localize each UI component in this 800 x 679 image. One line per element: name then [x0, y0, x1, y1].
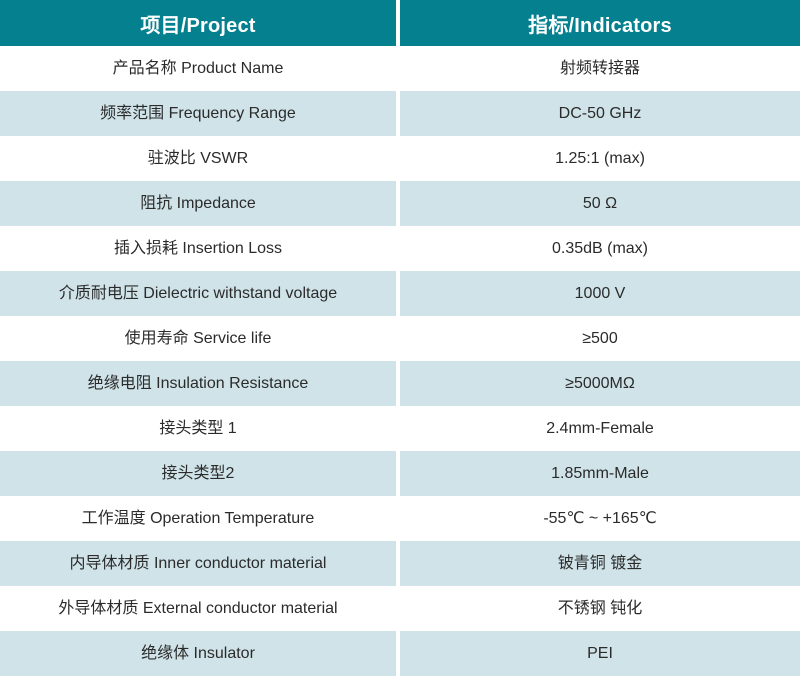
cell-project: 频率范围 Frequency Range [0, 91, 400, 136]
cell-indicator: 2.4mm-Female [400, 406, 800, 451]
cell-indicator: ≥5000MΩ [400, 361, 800, 406]
table-row: 产品名称 Product Name射频转接器 [0, 46, 800, 91]
table-row: 频率范围 Frequency RangeDC-50 GHz [0, 91, 800, 136]
cell-project: 产品名称 Product Name [0, 46, 400, 91]
cell-indicator: 0.35dB (max) [400, 226, 800, 271]
table-row: 使用寿命 Service life≥500 [0, 316, 800, 361]
cell-indicator: DC-50 GHz [400, 91, 800, 136]
cell-project: 绝缘电阻 Insulation Resistance [0, 361, 400, 406]
cell-indicator: -55℃ ~ +165℃ [400, 496, 800, 541]
cell-indicator: PEI [400, 631, 800, 676]
table-body: 产品名称 Product Name射频转接器频率范围 Frequency Ran… [0, 46, 800, 676]
table-row: 接头类型 12.4mm-Female [0, 406, 800, 451]
table-header-row: 项目/Project 指标/Indicators [0, 0, 800, 46]
table-row: 介质耐电压 Dielectric withstand voltage1000 V [0, 271, 800, 316]
cell-indicator: 1.85mm-Male [400, 451, 800, 496]
cell-project: 接头类型2 [0, 451, 400, 496]
table-row: 驻波比 VSWR1.25:1 (max) [0, 136, 800, 181]
table-row: 阻抗 Impedance50 Ω [0, 181, 800, 226]
cell-project: 插入损耗 Insertion Loss [0, 226, 400, 271]
cell-project: 工作温度 Operation Temperature [0, 496, 400, 541]
cell-project: 外导体材质 External conductor material [0, 586, 400, 631]
cell-project: 驻波比 VSWR [0, 136, 400, 181]
cell-project: 阻抗 Impedance [0, 181, 400, 226]
specification-table: 项目/Project 指标/Indicators 产品名称 Product Na… [0, 0, 800, 676]
cell-indicator: 射频转接器 [400, 46, 800, 91]
table-header: 项目/Project 指标/Indicators [0, 0, 800, 46]
cell-project: 使用寿命 Service life [0, 316, 400, 361]
table-row: 外导体材质 External conductor material不锈钢 钝化 [0, 586, 800, 631]
cell-indicator: 1000 V [400, 271, 800, 316]
cell-indicator: 不锈钢 钝化 [400, 586, 800, 631]
cell-indicator: 铍青铜 镀金 [400, 541, 800, 586]
table-row: 插入损耗 Insertion Loss0.35dB (max) [0, 226, 800, 271]
table-row: 接头类型21.85mm-Male [0, 451, 800, 496]
cell-project: 接头类型 1 [0, 406, 400, 451]
column-header-project: 项目/Project [0, 0, 400, 46]
table-row: 内导体材质 Inner conductor material铍青铜 镀金 [0, 541, 800, 586]
cell-project: 介质耐电压 Dielectric withstand voltage [0, 271, 400, 316]
cell-project: 绝缘体 Insulator [0, 631, 400, 676]
column-header-indicator: 指标/Indicators [400, 0, 800, 46]
cell-indicator: 1.25:1 (max) [400, 136, 800, 181]
cell-indicator: 50 Ω [400, 181, 800, 226]
table-row: 工作温度 Operation Temperature-55℃ ~ +165℃ [0, 496, 800, 541]
cell-indicator: ≥500 [400, 316, 800, 361]
table-row: 绝缘电阻 Insulation Resistance≥5000MΩ [0, 361, 800, 406]
cell-project: 内导体材质 Inner conductor material [0, 541, 400, 586]
table-row: 绝缘体 InsulatorPEI [0, 631, 800, 676]
